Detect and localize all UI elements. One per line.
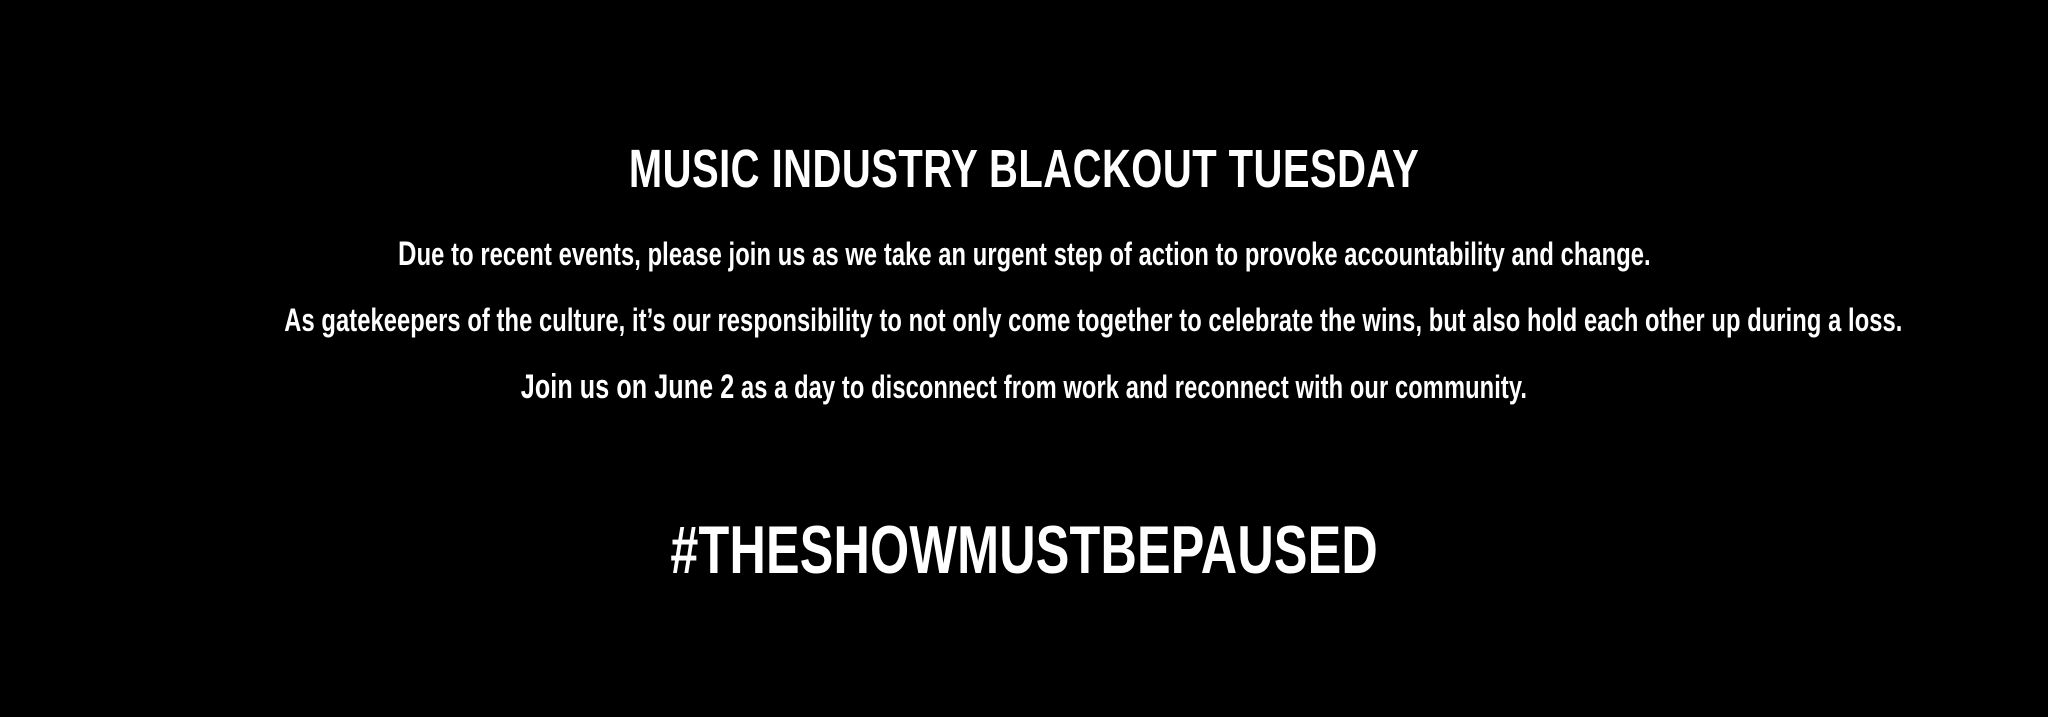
body-line-1-lead-cap: D	[398, 235, 417, 273]
page-title: MUSIC INDUSTRY BLACKOUT TUESDAY	[629, 142, 1419, 196]
body-line-3-lead-phrase: Join us on June 2	[521, 368, 735, 406]
body-line-2-text: As gatekeepers of the culture, it’s our …	[284, 304, 1902, 336]
body-line-3-rest: as a day to disconnect from work and rec…	[734, 369, 1527, 405]
body-line-1: Due to recent events, please join us as …	[0, 238, 2048, 270]
body-line-2: As gatekeepers of the culture, it’s our …	[0, 304, 2048, 336]
hashtag-row: #THESHOWMUSTBEPAUSED	[0, 516, 2048, 584]
body-line-3: Join us on June 2 as a day to disconnect…	[0, 371, 2048, 405]
body-line-1-rest: ue to recent events, please join us as w…	[416, 236, 1650, 272]
hashtag-the-show-must-be-paused: #THESHOWMUSTBEPAUSED	[670, 516, 1378, 584]
headline-row: MUSIC INDUSTRY BLACKOUT TUESDAY	[0, 142, 2048, 196]
blackout-tuesday-poster: MUSIC INDUSTRY BLACKOUT TUESDAY Due to r…	[0, 0, 2048, 717]
body-line-3-text: Join us on June 2 as a day to disconnect…	[521, 371, 1527, 405]
body-line-1-text: Due to recent events, please join us as …	[398, 238, 1651, 270]
